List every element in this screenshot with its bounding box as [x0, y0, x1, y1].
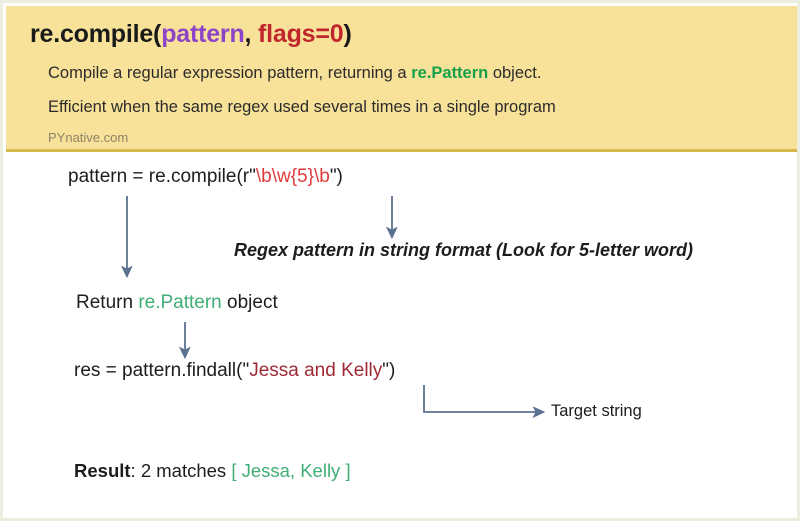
description-1-after: object.: [488, 64, 541, 82]
header-panel: re.compile(pattern, flags=0) Compile a r…: [6, 6, 800, 152]
description-1-before: Compile a regular expression pattern, re…: [48, 64, 411, 82]
signature-separator: ,: [245, 20, 259, 48]
annotation-regex-note: Regex pattern in string format (Look for…: [234, 240, 693, 261]
arrow-target-string: [424, 385, 538, 412]
diagram-panel: pattern = re.compile(r"\b\w{5}\b") Regex…: [6, 152, 800, 521]
findall-after: "): [382, 360, 395, 381]
signature-param-flags: flags=0: [258, 20, 343, 48]
compile-before: pattern = re.compile(r": [68, 166, 256, 187]
findall-target-string: Jessa and Kelly: [249, 360, 382, 381]
return-highlight: re.Pattern: [138, 292, 221, 313]
findall-before: res = pattern.findall(": [74, 360, 249, 381]
code-line-compile: pattern = re.compile(r"\b\w{5}\b"): [68, 166, 343, 188]
code-line-findall: res = pattern.findall("Jessa and Kelly"): [74, 360, 395, 382]
annotation-target-string: Target string: [551, 402, 642, 421]
signature-suffix: ): [343, 20, 351, 48]
result-matches: [ Jessa, Kelly ]: [231, 460, 350, 481]
result-label: Result: [74, 460, 131, 481]
watermark: PYnative.com: [48, 130, 128, 145]
code-line-return: Return re.Pattern object: [76, 292, 278, 314]
return-after: object: [222, 292, 278, 313]
signature-param-pattern: pattern: [161, 20, 244, 48]
function-signature: re.compile(pattern, flags=0): [30, 20, 352, 49]
regex-explainer-figure: re.compile(pattern, flags=0) Compile a r…: [0, 0, 800, 521]
code-line-result: Result: 2 matches [ Jessa, Kelly ]: [74, 460, 351, 482]
compile-after: "): [330, 166, 343, 187]
description-line-1: Compile a regular expression pattern, re…: [48, 64, 541, 83]
result-middle: : 2 matches: [131, 460, 232, 481]
return-before: Return: [76, 292, 138, 313]
description-1-highlight: re.Pattern: [411, 64, 488, 82]
signature-prefix: re.compile(: [30, 20, 161, 48]
compile-regex-literal: \b\w{5}\b: [256, 166, 330, 187]
description-line-2: Efficient when the same regex used sever…: [48, 98, 556, 117]
